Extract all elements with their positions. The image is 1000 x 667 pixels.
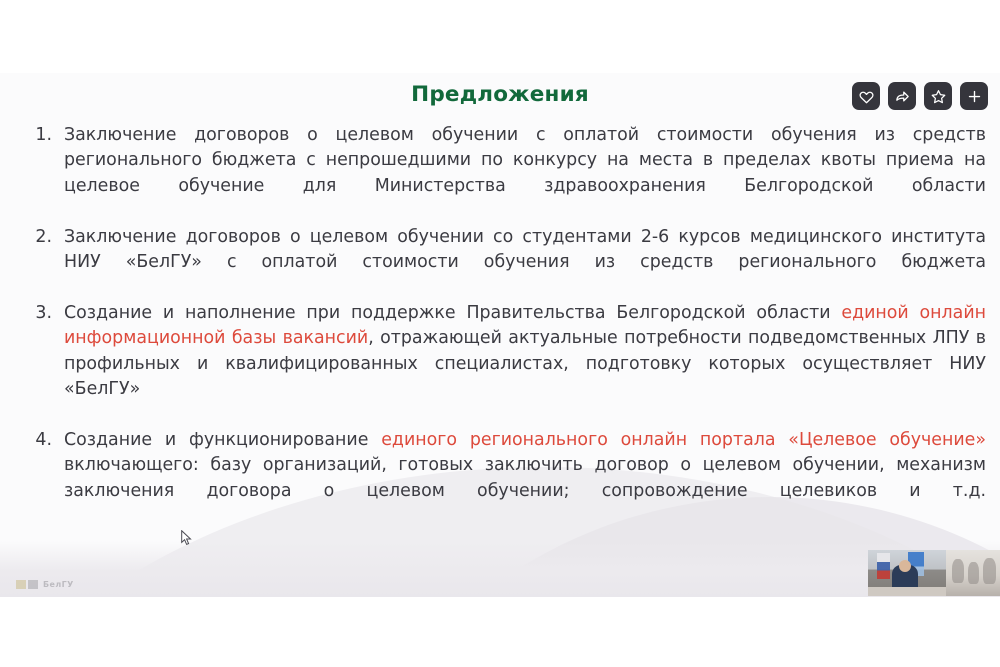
proposal-item: 3.Создание и наполнение при поддержке Пр…	[14, 301, 986, 428]
person-shape	[968, 562, 979, 584]
proposal-number: 4.	[14, 428, 64, 453]
action-button-bar	[852, 82, 988, 110]
proposal-highlight: единого регионального онлайн портала «Це…	[381, 430, 986, 450]
proposal-list: 1.Заключение договоров о целевом обучени…	[14, 123, 986, 530]
proposal-segment: включающего: базу организаций, готовых з…	[64, 455, 986, 500]
proposal-segment: Создание и наполнение при поддержке Прав…	[64, 303, 841, 323]
participant-video-strip[interactable]	[868, 550, 1000, 596]
proposal-text: Заключение договоров о целевом обучении …	[64, 225, 986, 301]
proposal-item: 4.Создание и функционирование единого ре…	[14, 428, 986, 530]
proposal-number: 3.	[14, 301, 64, 326]
participant-tile-room[interactable]	[946, 550, 1000, 596]
heart-icon	[859, 89, 874, 104]
proposal-item: 1.Заключение договоров о целевом обучени…	[14, 123, 986, 225]
bookmark-button[interactable]	[924, 82, 952, 110]
proposal-text: Создание и наполнение при поддержке Прав…	[64, 301, 986, 428]
proposal-text: Заключение договоров о целевом обучении …	[64, 123, 986, 225]
proposal-text: Создание и функционирование единого реги…	[64, 428, 986, 530]
watermark-mark-icon	[16, 580, 38, 589]
share-arrow-icon	[895, 89, 910, 104]
favorite-button[interactable]	[852, 82, 880, 110]
proposal-number: 2.	[14, 225, 64, 250]
slide-canvas[interactable]: Предложения 1.Заключение договоров о цел…	[0, 73, 1000, 597]
proposal-segment: Создание и функционирование	[64, 430, 381, 450]
add-button[interactable]	[960, 82, 988, 110]
proposal-segment: Заключение договоров о целевом обучении …	[64, 125, 986, 196]
desk-edge	[868, 587, 946, 596]
watermark: БелГУ	[16, 580, 74, 589]
person-shape	[983, 558, 996, 584]
watermark-label: БелГУ	[43, 580, 74, 589]
proposal-segment: Заключение договоров о целевом обучении …	[64, 227, 986, 272]
proposal-item: 2.Заключение договоров о целевом обучени…	[14, 225, 986, 301]
participant-tile-speaker[interactable]	[868, 550, 946, 596]
star-icon	[931, 89, 946, 104]
plus-icon	[967, 89, 982, 104]
presentation-viewer: Предложения 1.Заключение договоров о цел…	[0, 0, 1000, 667]
person-head	[899, 560, 911, 572]
russian-flag-icon	[877, 553, 890, 579]
proposal-number: 1.	[14, 123, 64, 148]
slide-title: Предложения	[0, 82, 1000, 107]
share-button[interactable]	[888, 82, 916, 110]
person-shape	[952, 559, 964, 583]
